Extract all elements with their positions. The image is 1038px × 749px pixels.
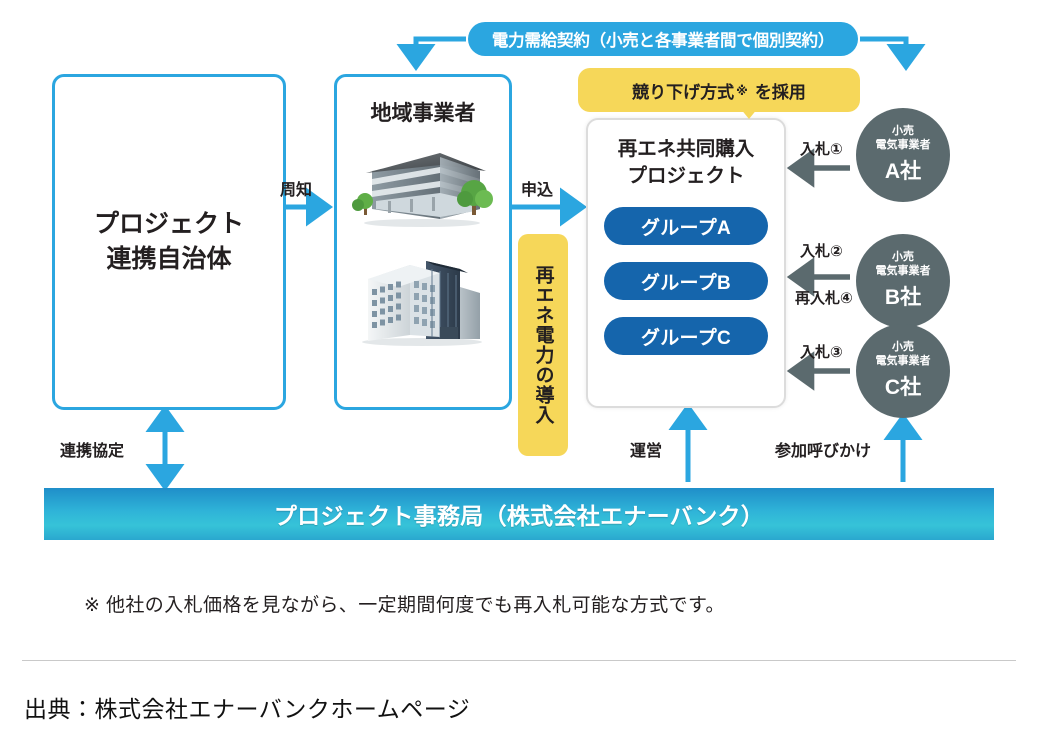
footnote-text: ※ 他社の入札価格を見ながら、一定期間何度でも再入札可能な方式です。 [84, 590, 725, 617]
contract-banner: 電力需給契約（小売と各事業者間で個別契約） [468, 22, 858, 56]
label-participation: 参加呼びかけ [775, 437, 871, 461]
retailer-a-sub1: 小売 [892, 125, 914, 139]
adopt-banner-suffix: を採用 [755, 78, 806, 103]
label-bid-a: 入札① [800, 138, 843, 159]
retailer-circle-b: 小売 電気事業者 B社 [856, 234, 950, 328]
retailer-b-sub1: 小売 [892, 251, 914, 265]
group-pill-a[interactable]: グループA [604, 207, 768, 245]
retailer-c-name: C社 [885, 371, 921, 401]
retailer-circle-a: 小売 電気事業者 A社 [856, 108, 950, 202]
retailer-a-sub2: 電気事業者 [876, 139, 931, 153]
arrow-contract-left [416, 39, 466, 60]
label-bid-b: 入札② [800, 240, 843, 261]
source-text: 出典：株式会社エナーバンクホームページ [24, 690, 470, 724]
low-rise-office-building-illustration [337, 143, 509, 231]
project-box: 再エネ共同購入 プロジェクト グループA グループB グループC [586, 118, 786, 408]
municipality-label: プロジェクト 連携自治体 [94, 207, 244, 278]
renewable-intro-banner-text: 再エネ電力の導入 [534, 265, 553, 425]
adopt-banner: 競り下げ方式 ※ を採用 [578, 68, 860, 112]
label-notify: 周知 [280, 176, 312, 200]
project-title-line1: 再エネ共同購入 [618, 136, 755, 163]
retailer-circle-c: 小売 電気事業者 C社 [856, 324, 950, 418]
retailer-c-sub1: 小売 [892, 341, 914, 355]
municipality-box: プロジェクト 連携自治体 [52, 74, 286, 410]
retailer-a-name: A社 [885, 155, 921, 185]
retailer-c-sub2: 電気事業者 [876, 355, 931, 369]
section-divider [22, 660, 1016, 661]
arrow-contract-right [860, 39, 906, 60]
renewable-intro-banner: 再エネ電力の導入 [518, 234, 568, 456]
regional-business-box: 地域事業者 [334, 74, 512, 410]
label-rebid-b: 再入札④ [795, 287, 853, 308]
municipality-line2: 連携自治体 [94, 242, 244, 278]
project-title: 再エネ共同購入 プロジェクト [618, 136, 755, 189]
project-office-label: プロジェクト事務局（株式会社エナーバンク） [274, 497, 764, 531]
adopt-banner-tail [740, 108, 758, 119]
municipality-line1: プロジェクト [94, 207, 244, 243]
group-pill-b[interactable]: グループB [604, 262, 768, 300]
label-bid-c: 入札③ [800, 341, 843, 362]
diagram-canvas: 電力需給契約（小売と各事業者間で個別契約） 競り下げ方式 ※ を採用 プロジェク… [0, 0, 1038, 749]
adopt-banner-text: 競り下げ方式 [632, 78, 734, 103]
label-apply: 申込 [521, 176, 553, 200]
retailer-b-sub2: 電気事業者 [876, 265, 931, 279]
project-title-line2: プロジェクト [618, 163, 755, 190]
regional-business-title: 地域事業者 [337, 97, 509, 127]
retailer-b-name: B社 [885, 281, 921, 311]
multi-story-office-building-illustration [337, 243, 509, 351]
project-office-bar: プロジェクト事務局（株式会社エナーバンク） [44, 488, 994, 540]
label-agreement: 連携協定 [60, 437, 124, 461]
adopt-banner-asterisk: ※ [736, 84, 748, 98]
group-pill-c[interactable]: グループC [604, 317, 768, 355]
label-operation: 運営 [630, 437, 662, 461]
